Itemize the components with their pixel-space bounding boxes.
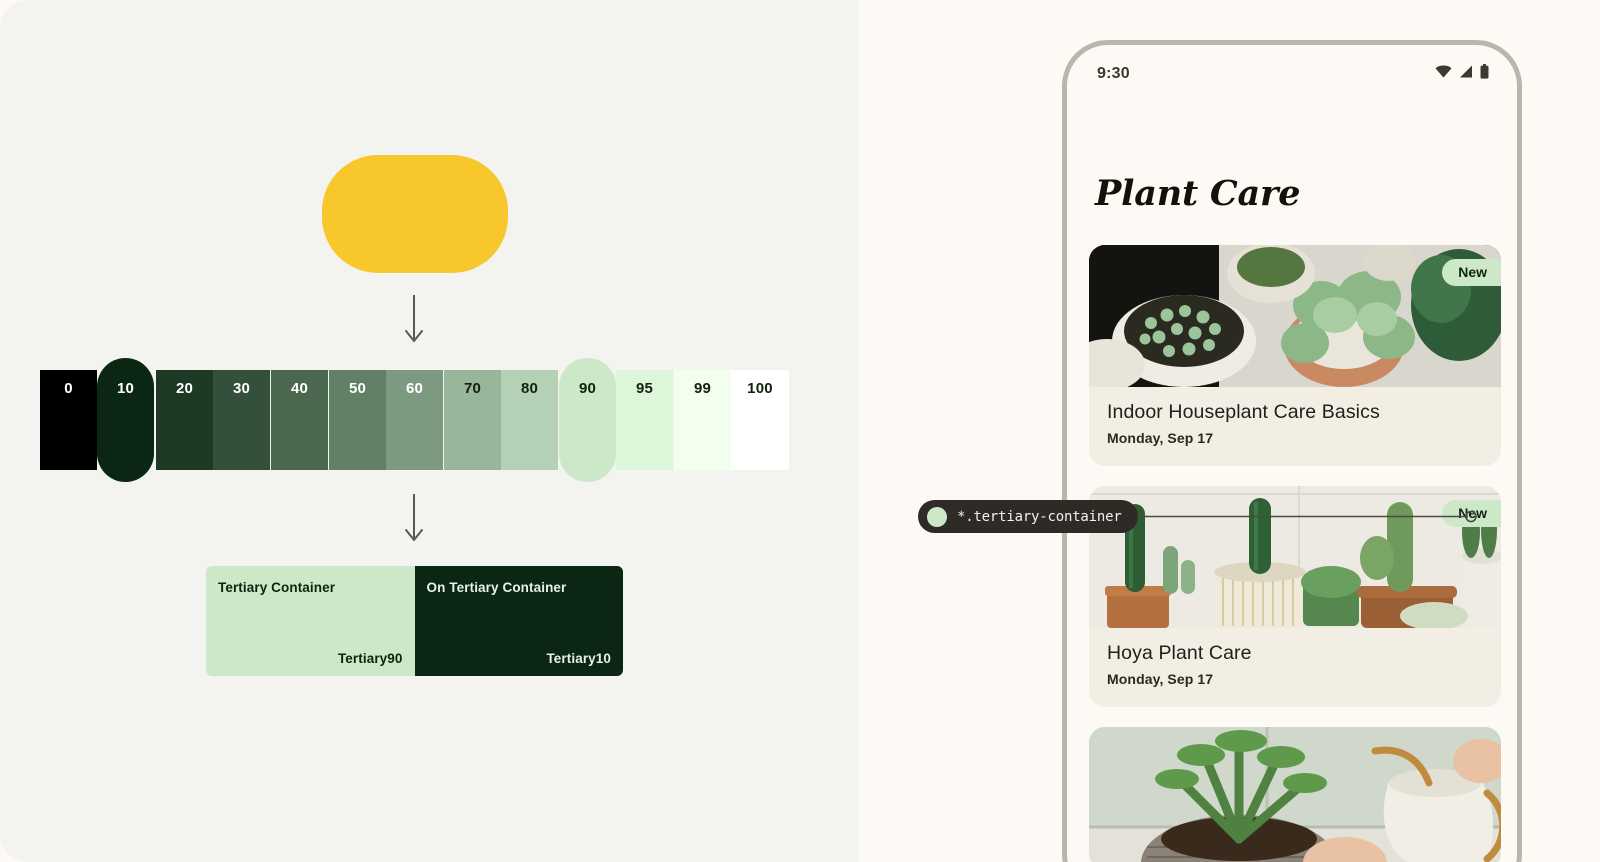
card-date: Monday, Sep 17 (1107, 430, 1483, 446)
palette-swatch-0[interactable]: 0 (40, 370, 97, 470)
palette-swatch-70[interactable]: 70 (444, 370, 501, 470)
cellular-signal-icon (1459, 65, 1473, 83)
article-card-list: NewIndoor Houseplant Care BasicsMonday, … (1089, 245, 1501, 862)
tonal-palette: 01020304050607080909599100 (40, 370, 790, 470)
palette-swatch-100[interactable]: 100 (731, 370, 789, 470)
status-bar-icons (1435, 64, 1489, 84)
arrow-down-to-roles (398, 492, 430, 547)
status-bar: 9:30 (1067, 45, 1517, 103)
color-role-name: On Tertiary Container (427, 580, 610, 595)
card-title: Indoor Houseplant Care Basics (1107, 401, 1483, 424)
tertiary-container-color-dot (927, 507, 947, 527)
palette-swatch-tone-label: 95 (636, 380, 653, 397)
color-role-box[interactable]: Tertiary ContainerTertiary90 (206, 566, 415, 676)
card-date: Monday, Sep 17 (1107, 671, 1483, 687)
palette-swatch-99[interactable]: 99 (674, 370, 731, 470)
card-image (1089, 727, 1501, 862)
card-body: Hoya Plant CareMonday, Sep 17 (1089, 628, 1501, 707)
palette-swatch-tone-label: 99 (694, 380, 711, 397)
color-role-tone-label: Tertiary10 (546, 651, 611, 666)
palette-swatch-tone-label: 40 (291, 380, 308, 397)
palette-swatch-tone-label: 0 (64, 380, 73, 397)
palette-swatch-95[interactable]: 95 (616, 370, 673, 470)
palette-swatch-tone-label: 70 (464, 380, 481, 397)
palette-swatch-50[interactable]: 50 (329, 370, 386, 470)
palette-swatch-20[interactable]: 20 (156, 370, 213, 470)
color-role-name: Tertiary Container (218, 580, 401, 595)
battery-icon (1480, 64, 1489, 84)
arrow-down-to-palette (398, 293, 430, 348)
palette-swatch-tone-label: 80 (521, 380, 538, 397)
status-bar-clock: 9:30 (1097, 65, 1130, 83)
annotation-tooltip[interactable]: *.tertiary-container (918, 500, 1138, 533)
palette-swatch-tone-label: 30 (233, 380, 250, 397)
palette-panel: 01020304050607080909599100 Tertiary Cont… (0, 0, 858, 862)
palette-swatch-10[interactable]: 10 (97, 358, 154, 482)
article-card[interactable] (1089, 727, 1501, 862)
palette-swatch-tone-label: 20 (176, 380, 193, 397)
palette-swatch-tone-label: 60 (406, 380, 423, 397)
palette-swatch-90[interactable]: 90 (559, 358, 616, 482)
color-role-row: Tertiary ContainerTertiary90On Tertiary … (206, 566, 623, 676)
color-role-tone-label: Tertiary90 (338, 651, 403, 666)
color-role-box[interactable]: On Tertiary ContainerTertiary10 (415, 566, 624, 676)
wifi-icon (1435, 65, 1452, 83)
card-image: New (1089, 245, 1501, 387)
status-badge: New (1442, 259, 1501, 286)
palette-swatch-tone-label: 100 (747, 380, 773, 397)
annotation-leader-line (1122, 500, 1478, 533)
card-title: Hoya Plant Care (1107, 642, 1483, 665)
screenshot-root: 01020304050607080909599100 Tertiary Cont… (0, 0, 1600, 862)
phone-mockup: 9:30 (1062, 40, 1522, 862)
palette-swatch-80[interactable]: 80 (501, 370, 558, 470)
palette-swatch-tone-label: 90 (579, 380, 596, 397)
palette-swatch-tone-label: 50 (349, 380, 366, 397)
card-body: Indoor Houseplant Care BasicsMonday, Sep… (1089, 387, 1501, 466)
article-card[interactable]: NewIndoor Houseplant Care BasicsMonday, … (1089, 245, 1501, 466)
page-title: Plant Care (1095, 173, 1300, 214)
palette-swatch-60[interactable]: 60 (386, 370, 443, 470)
source-color-swatch[interactable] (322, 155, 508, 273)
palette-swatch-tone-label: 10 (117, 380, 134, 397)
annotation-token-label: *.tertiary-container (957, 509, 1122, 525)
palette-swatch-30[interactable]: 30 (213, 370, 270, 470)
palette-swatch-40[interactable]: 40 (271, 370, 328, 470)
